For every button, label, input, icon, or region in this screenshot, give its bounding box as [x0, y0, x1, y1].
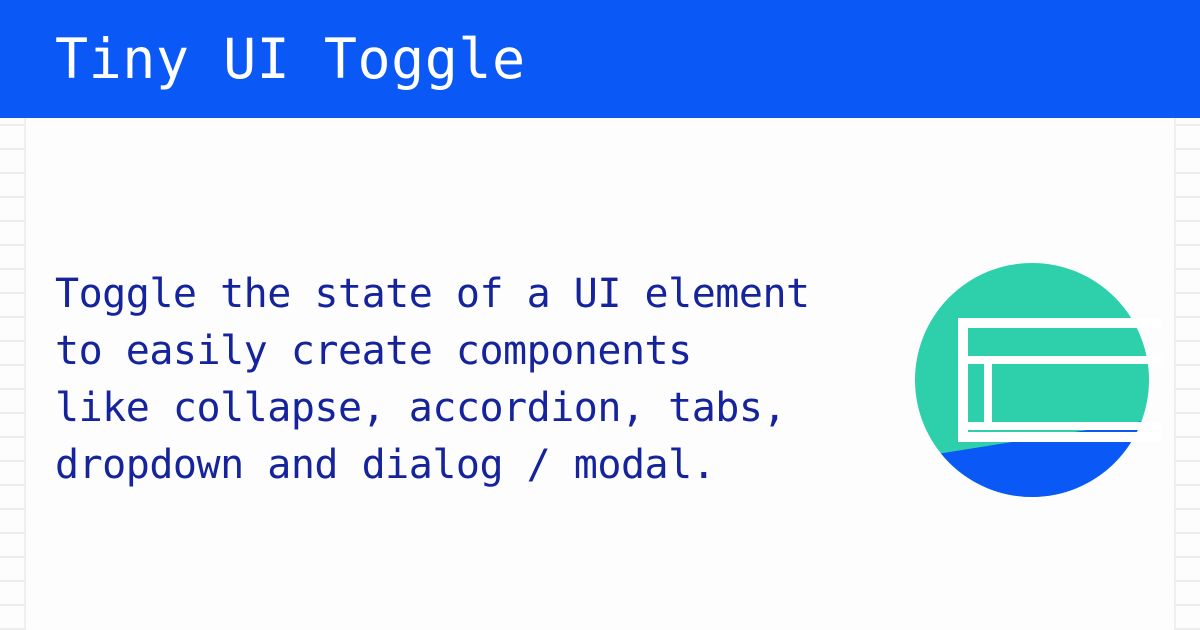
- logo-svg: [912, 260, 1162, 500]
- description-text: Toggle the state of a UI element to easi…: [55, 266, 885, 494]
- logo-circle: [912, 260, 1162, 500]
- main-content: Toggle the state of a UI element to easi…: [0, 118, 1200, 630]
- tiny-ui-toggle-logo-icon: [912, 260, 1162, 500]
- page-title: Tiny UI Toggle: [55, 26, 526, 92]
- page-root: Tiny UI Toggle Toggle the state of a UI …: [0, 0, 1200, 630]
- header-bar: Tiny UI Toggle: [0, 0, 1200, 118]
